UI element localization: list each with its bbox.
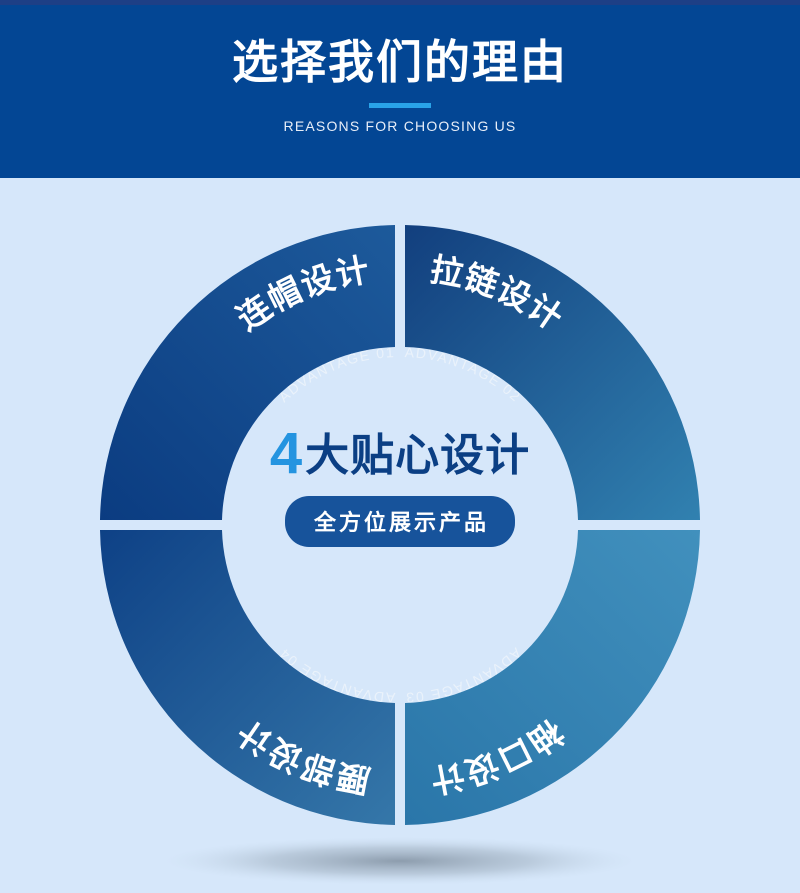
page-header: 选择我们的理由 REASONS FOR CHOOSING US xyxy=(0,0,800,178)
center-title-text: 大贴心设计 xyxy=(305,431,530,480)
donut-chart: 连帽设计 ADVANTAGE 01 拉链设计 ADVANTAGE 02 xyxy=(0,178,800,893)
promo-page: 选择我们的理由 REASONS FOR CHOOSING US xyxy=(0,0,800,893)
donut-stage: 连帽设计 ADVANTAGE 01 拉链设计 ADVANTAGE 02 xyxy=(0,178,800,893)
page-title: 选择我们的理由 xyxy=(0,34,800,90)
donut-center-content: 4大贴心设计 全方位展示产品 xyxy=(160,428,640,547)
center-badge: 全方位展示产品 xyxy=(285,496,515,547)
title-accent-rule xyxy=(369,103,431,108)
header-top-strip xyxy=(0,0,800,5)
center-title: 4大贴心设计 xyxy=(160,428,640,482)
center-number: 4 xyxy=(270,421,303,486)
ground-shadow xyxy=(164,837,636,885)
segment-advantage-04[interactable]: 腰部设计 ADVANTAGE 04 xyxy=(100,530,396,825)
page-subtitle: REASONS FOR CHOOSING US xyxy=(0,118,800,134)
segment-advantage-03[interactable]: 袖口设计 ADVANTAGE 03 xyxy=(404,530,700,825)
